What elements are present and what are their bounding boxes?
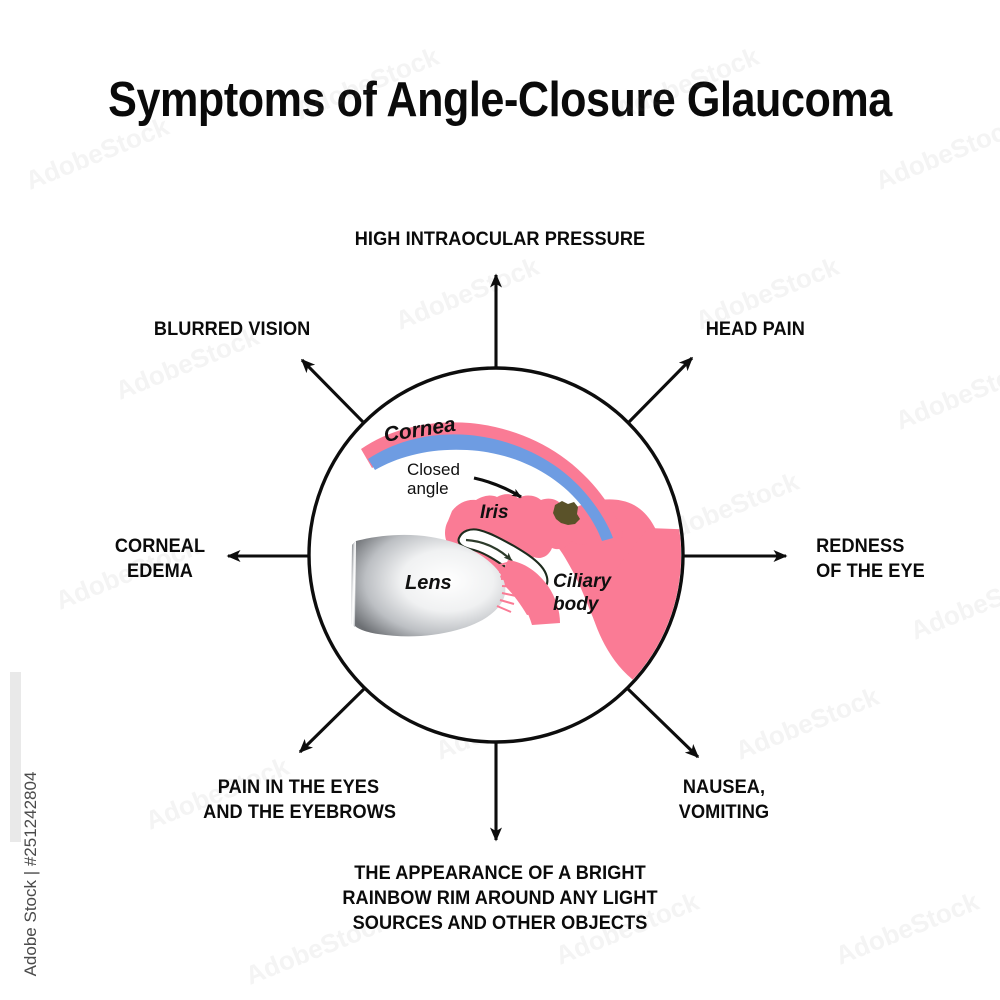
closed-angle-line1: Closed [407,460,460,479]
glaucoma-symptoms-infographic: Symptoms of Angle-Closure Glaucoma [0,0,1000,1000]
ciliary-line2: body [553,594,598,615]
iris-label: Iris [480,502,509,524]
symptom-label-redness-of-the-eye: REDNESS OF THE EYE [816,534,925,584]
ciliary-line1: Ciliary [553,571,611,592]
eye-diagram: AdobeStock AdobeStock AdobeStock AdobeSt… [0,0,1000,1000]
ciliary-body-label: Ciliary body [553,570,611,616]
arrow-head-pain [628,358,692,423]
svg-text:AdobeStock: AdobeStock [611,41,763,126]
nausea-line1: NAUSEA, [683,776,765,798]
symptom-label-rainbow-halo: THE APPEARANCE OF A BRIGHT RAINBOW RIM A… [35,861,965,936]
arrow-pain-in-the-eyes [300,689,364,752]
svg-text:AdobeStock: AdobeStock [21,111,173,196]
watermark-bar [10,672,21,842]
svg-text:AdobeStock: AdobeStock [871,111,1000,196]
redness-line1: REDNESS [816,535,904,557]
svg-text:AdobeStock: AdobeStock [731,681,883,766]
symptom-label-head-pain: HEAD PAIN [706,317,805,342]
nausea-line2: VOMITING [679,801,769,823]
svg-text:AdobeStock: AdobeStock [391,251,543,336]
arrow-nausea-vomiting [628,689,698,757]
symptom-label-pain-in-the-eyes: PAIN IN THE EYES AND THE EYEBROWS [203,775,394,825]
pain-eyes-line1: PAIN IN THE EYES [218,776,379,798]
closed-angle-label: Closed angle [407,460,460,498]
symptom-label-nausea-vomiting: NAUSEA, VOMITING [677,775,772,825]
pain-eyes-line2: AND THE EYEBROWS [203,801,396,823]
closed-angle-line2: angle [407,479,449,498]
symptom-label-blurred-vision: BLURRED VISION [154,317,310,342]
symptom-label-high-intraocular-pressure: HIGH INTRAOCULAR PRESSURE [35,227,965,252]
redness-line2: OF THE EYE [816,560,925,582]
svg-text:AdobeStock: AdobeStock [291,41,443,126]
svg-text:AdobeStock: AdobeStock [891,351,1000,436]
corneal-edema-line1: CORNEAL [115,535,205,557]
symptom-label-corneal-edema: CORNEAL EDEMA [108,534,212,584]
lens-label: Lens [405,572,452,595]
rainbow-line1: THE APPEARANCE OF A BRIGHT [354,862,646,884]
watermark-id-text: Adobe Stock | #251242804 [21,749,41,999]
rainbow-line2: RAINBOW RIM AROUND ANY LIGHT [342,887,657,909]
corneal-edema-line2: EDEMA [127,560,193,582]
arrow-blurred-vision [302,360,364,423]
rainbow-line3: SOURCES AND OTHER OBJECTS [353,912,648,934]
